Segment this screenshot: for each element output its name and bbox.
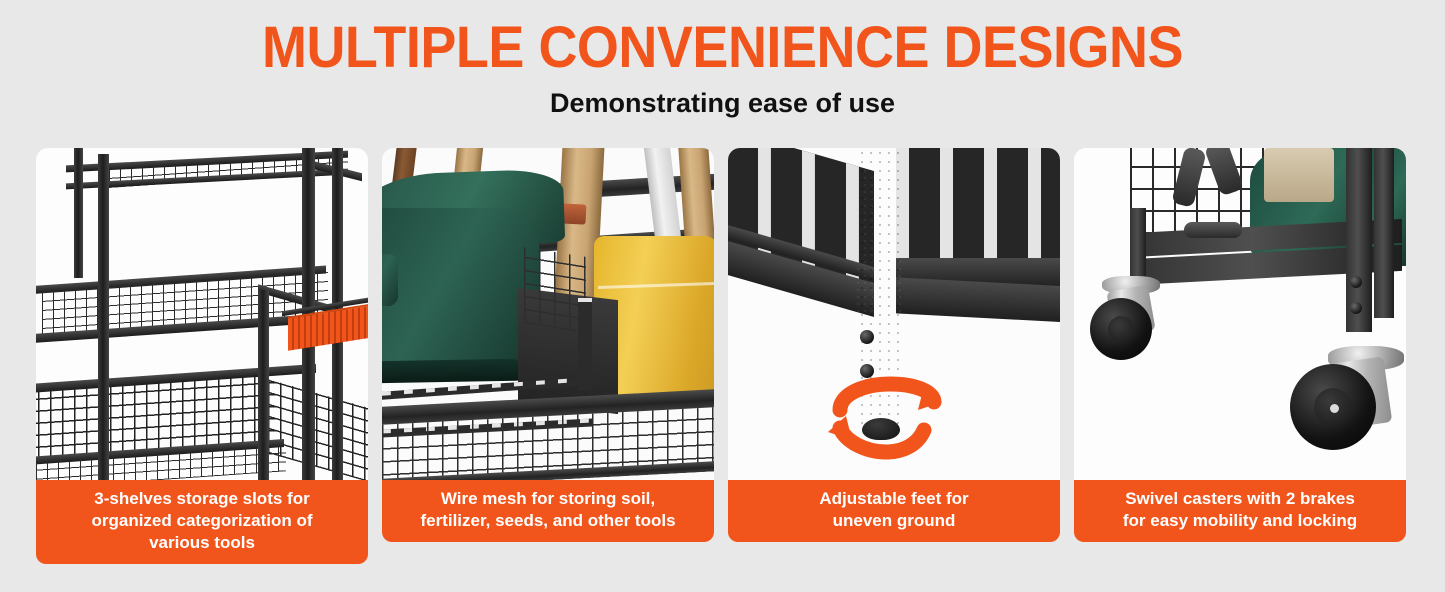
feature-panel-row: 3-shelves storage slots for organized ca… — [36, 148, 1412, 564]
photo-wire-mesh — [382, 148, 714, 480]
panel-caption: Adjustable feet for uneven ground — [728, 480, 1060, 542]
banner-header: MULTIPLE CONVENIENCE DESIGNS Demonstrati… — [0, 0, 1445, 120]
photo-adjustable-feet — [728, 148, 1060, 480]
feature-panel-adjustable-feet[interactable]: Adjustable feet for uneven ground — [728, 148, 1060, 564]
feature-panel-wire-mesh[interactable]: Wire mesh for storing soil, fertilizer, … — [382, 148, 714, 564]
page-subtitle: Demonstrating ease of use — [0, 86, 1445, 120]
photo-shelves — [36, 148, 368, 480]
panel-caption: Swivel casters with 2 brakes for easy mo… — [1074, 480, 1406, 542]
feature-panel-shelves[interactable]: 3-shelves storage slots for organized ca… — [36, 148, 368, 564]
panel-caption: 3-shelves storage slots for organized ca… — [36, 480, 368, 564]
photo-swivel-casters — [1074, 148, 1406, 480]
rotation-arrow-icon — [728, 148, 1060, 480]
feature-panel-swivel-casters[interactable]: Swivel casters with 2 brakes for easy mo… — [1074, 148, 1406, 564]
page-title: MULTIPLE CONVENIENCE DESIGNS — [51, 16, 1395, 80]
promo-banner: MULTIPLE CONVENIENCE DESIGNS Demonstrati… — [0, 0, 1445, 592]
panel-caption: Wire mesh for storing soil, fertilizer, … — [382, 480, 714, 542]
